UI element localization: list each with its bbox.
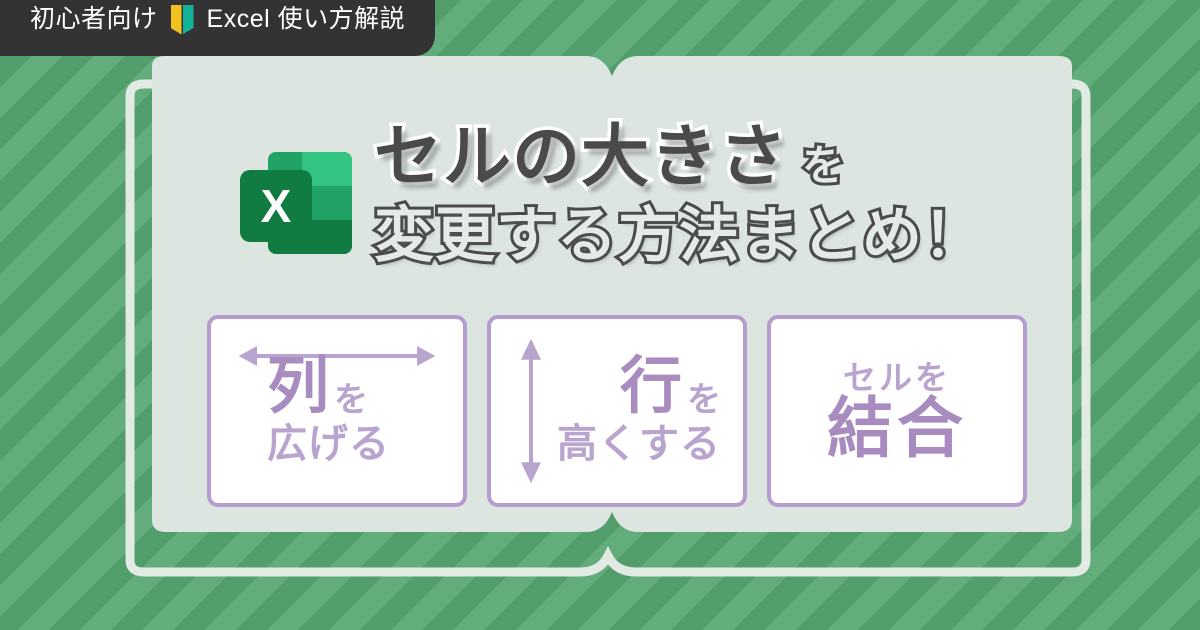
card-row-height-row-1: 行 を xyxy=(620,357,721,418)
badge-prefix-label: 初心者向け xyxy=(30,0,158,32)
card-column-width-row-1: 列 を xyxy=(267,357,463,418)
page-title-particle: を xyxy=(802,142,844,189)
card-column-width-text: 列 を 広げる xyxy=(211,357,463,466)
headline-group: X セルの大きさを 変更する方法まとめ！ xyxy=(236,120,996,267)
card-merge-cells-lead: セルを xyxy=(843,361,951,394)
card-column-width-keyword: 列 xyxy=(267,357,330,418)
excel-logo: X xyxy=(236,142,356,262)
card-column-width-action: 広げる xyxy=(267,423,463,465)
page-title-subline: 変更する方法まとめ！ xyxy=(374,202,984,269)
card-row-height-body: 行 を 高くする xyxy=(491,319,743,503)
category-badge[interactable]: 初心者向け Excel 使い方解説 xyxy=(0,0,435,56)
excel-logo-tile: X xyxy=(240,170,312,242)
badge-suffix-label: Excel 使い方解説 xyxy=(207,0,406,32)
card-row-height-particle: を xyxy=(687,383,721,417)
card-merge-cells-keyword: 結合 xyxy=(827,396,967,461)
title-stack: セルの大きさを 変更する方法まとめ！ xyxy=(374,120,984,267)
poster-canvas: X セルの大きさを 変更する方法まとめ！ xyxy=(0,0,1200,630)
card-row-height-action: 高くする xyxy=(557,423,721,465)
card-merge-cells[interactable]: セルを 結合 xyxy=(767,315,1027,507)
excel-logo-letter: X xyxy=(261,183,292,229)
card-row-height-keyword: 行 xyxy=(620,357,683,418)
card-column-width-particle: を xyxy=(334,383,368,417)
page-title-line-2: 変更する方法まとめ！ xyxy=(374,205,984,267)
card-merge-cells-body: セルを 結合 xyxy=(771,319,1023,503)
page-title-main: セルの大きさ xyxy=(374,119,788,195)
card-column-width-body: 列 を 広げる xyxy=(211,319,463,503)
shoshinsha-mark-icon xyxy=(171,5,194,35)
feature-card-list: 列 を 広げる 行 を 高くする xyxy=(207,315,1027,507)
card-column-width[interactable]: 列 を 広げる xyxy=(207,315,467,507)
card-row-height[interactable]: 行 を 高くする xyxy=(487,315,747,507)
page-title-line-1: セルの大きさを xyxy=(374,122,984,193)
